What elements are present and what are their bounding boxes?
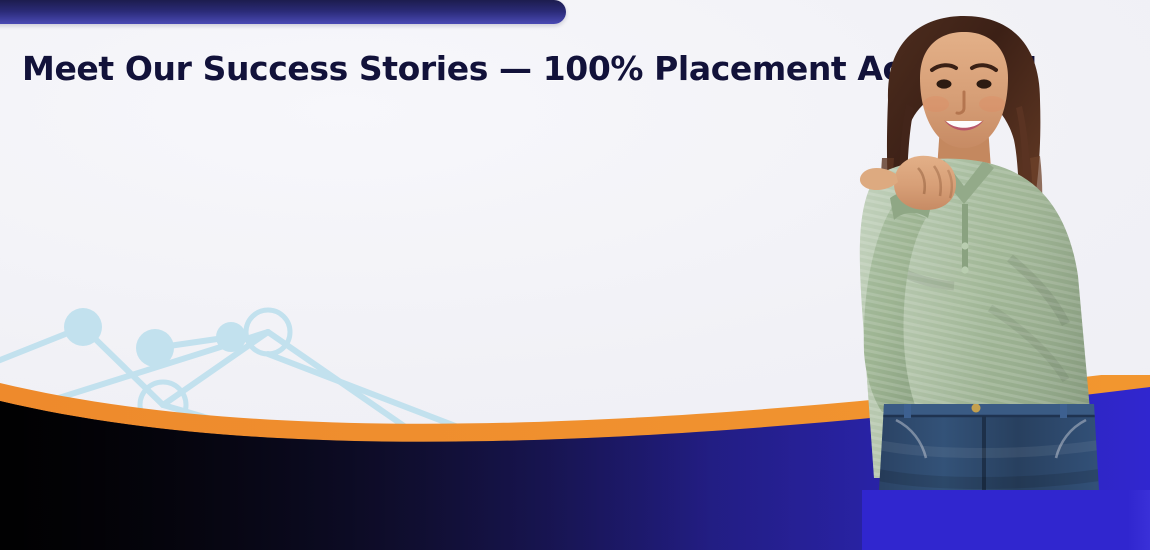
face — [920, 32, 1008, 148]
page-title: Meet Our Success Stories — 100% Placemen… — [22, 50, 902, 89]
eye-left — [937, 79, 952, 88]
banner-stage: Meet Our Success Stories — 100% Placemen… — [0, 0, 1150, 550]
bottom-right-blue-block — [862, 490, 1150, 550]
person-photo — [778, 8, 1150, 508]
eye-right — [977, 79, 992, 88]
top-accent-bar — [0, 0, 566, 24]
